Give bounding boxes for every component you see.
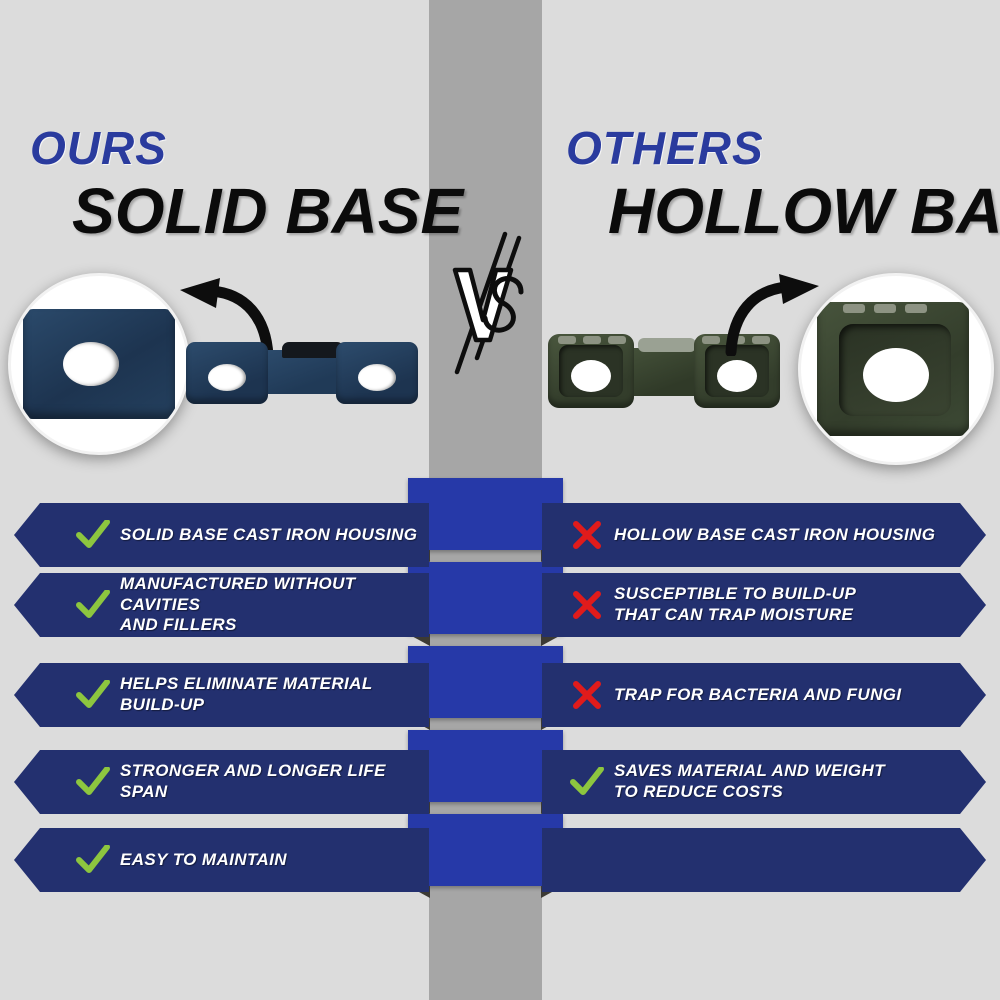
others-kicker: OTHERS [566, 125, 1000, 171]
center-connector-block [408, 562, 563, 634]
comparison-row-right: HOLLOW BASE CAST IRON HOUSING [542, 503, 986, 567]
housing-studs-left [558, 336, 626, 344]
cross-icon [560, 520, 614, 550]
comparison-row-left: HELPS ELIMINATE MATERIAL BUILD-UP [14, 663, 429, 727]
ours-heading-group: OURS SOLID BASE [30, 125, 463, 243]
comparison-row-right: SUSCEPTIBLE TO BUILD-UP THAT CAN TRAP MO… [542, 573, 986, 637]
ours-housing-silhouette [186, 342, 418, 408]
ours-kicker: OURS [30, 125, 463, 171]
check-icon [66, 590, 120, 620]
solid-base-bore-hole [63, 342, 119, 386]
others-product-photo [542, 268, 1000, 458]
check-icon [560, 767, 614, 797]
ours-feature-label: MANUFACTURED WITHOUT CAVITIES AND FILLER… [120, 574, 429, 636]
comparison-row-left: STRONGER AND LONGER LIFE SPAN [14, 750, 429, 814]
comparison-row-left: EASY TO MAINTAIN [14, 828, 429, 892]
others-feature-label: SUSCEPTIBLE TO BUILD-UP THAT CAN TRAP MO… [614, 584, 856, 625]
cross-icon [560, 590, 614, 620]
others-feature-label: SAVES MATERIAL AND WEIGHT TO REDUCE COST… [614, 761, 885, 802]
others-feature-label: HOLLOW BASE CAST IRON HOUSING [614, 525, 935, 546]
ours-feature-banner[interactable]: HELPS ELIMINATE MATERIAL BUILD-UP [14, 663, 429, 727]
check-icon [66, 680, 120, 710]
ours-feature-label: SOLID BASE CAST IRON HOUSING [120, 525, 417, 546]
ours-feature-label: STRONGER AND LONGER LIFE SPAN [120, 761, 429, 802]
ours-feature-label: HELPS ELIMINATE MATERIAL BUILD-UP [120, 674, 373, 715]
others-heading-group: OTHERS HOLLOW BASE [566, 125, 1000, 243]
others-feature-banner[interactable]: SUSCEPTIBLE TO BUILD-UP THAT CAN TRAP MO… [542, 573, 986, 637]
housing-cap [282, 342, 344, 358]
ours-product-photo [0, 268, 429, 458]
comparison-row-left: MANUFACTURED WITHOUT CAVITIES AND FILLER… [14, 573, 429, 637]
comparison-row-right [542, 828, 986, 892]
others-feature-banner[interactable]: TRAP FOR BACTERIA AND FUNGI [542, 663, 986, 727]
others-feature-banner[interactable]: SAVES MATERIAL AND WEIGHT TO REDUCE COST… [542, 750, 986, 814]
others-feature-banner[interactable] [542, 828, 986, 892]
ours-title: SOLID BASE [72, 179, 463, 243]
others-feature-banner[interactable]: HOLLOW BASE CAST IRON HOUSING [542, 503, 986, 567]
comparison-row-left: SOLID BASE CAST IRON HOUSING [14, 503, 429, 567]
ours-feature-banner[interactable]: MANUFACTURED WITHOUT CAVITIES AND FILLER… [14, 573, 429, 637]
check-icon [66, 520, 120, 550]
ours-feature-banner[interactable]: SOLID BASE CAST IRON HOUSING [14, 503, 429, 567]
center-connector-block [408, 814, 563, 886]
ours-feature-banner[interactable]: STRONGER AND LONGER LIFE SPAN [14, 750, 429, 814]
comparison-row-right: TRAP FOR BACTERIA AND FUNGI [542, 663, 986, 727]
others-title: HOLLOW BASE [608, 179, 1000, 243]
hollow-base-bore-hole [863, 348, 929, 402]
housing-bolt-hole-right [358, 364, 396, 391]
check-icon [66, 845, 120, 875]
ours-feature-banner[interactable]: EASY TO MAINTAIN [14, 828, 429, 892]
ours-feature-label: EASY TO MAINTAIN [120, 850, 287, 871]
comparison-row-right: SAVES MATERIAL AND WEIGHT TO REDUCE COST… [542, 750, 986, 814]
housing-bolt-hole-left [208, 364, 246, 391]
ours-magnifier-inset [8, 273, 190, 455]
cross-icon [560, 680, 614, 710]
vs-badge [443, 228, 535, 378]
housing-bolt-hole-right [717, 360, 757, 392]
housing-bolt-hole-left [571, 360, 611, 392]
hollow-base-studs [843, 304, 927, 313]
center-connector-block [408, 730, 563, 802]
check-icon [66, 767, 120, 797]
housing-cap [638, 338, 696, 352]
others-magnifier-inset [798, 273, 994, 465]
infographic-canvas: OURS SOLID BASE OTHERS HOLLOW BASE [0, 0, 1000, 1000]
center-connector-block [408, 646, 563, 718]
center-connector-block [408, 478, 563, 550]
others-feature-label: TRAP FOR BACTERIA AND FUNGI [614, 685, 902, 706]
